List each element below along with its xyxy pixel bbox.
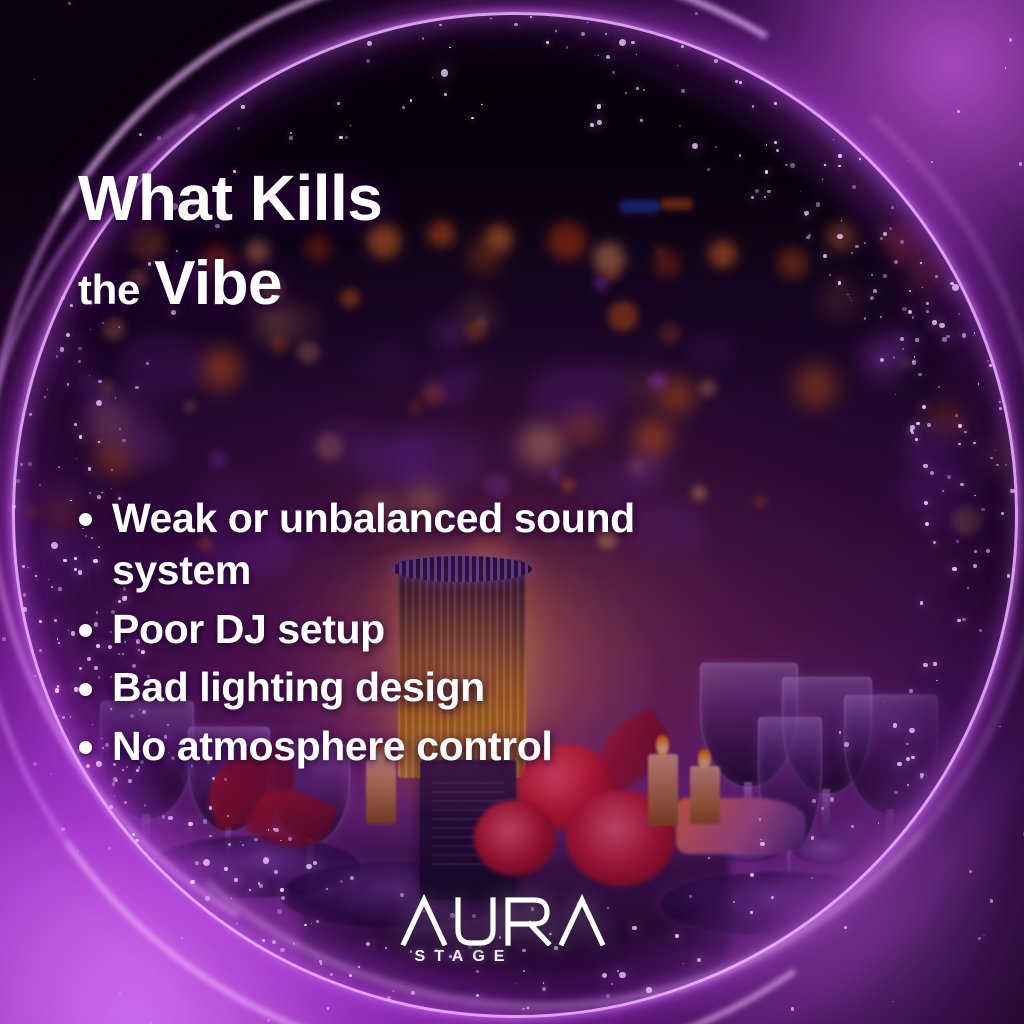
- poster-canvas: What Kills theVibe Weak or unbalanced so…: [0, 0, 1024, 1024]
- logo-subtitle: STAGE: [415, 948, 514, 966]
- list-item: Poor DJ setup: [70, 603, 770, 655]
- headline-line-1: What Kills: [78, 166, 382, 230]
- brand-logo: STAGE: [0, 894, 1024, 966]
- headline-prefix: the: [78, 266, 140, 313]
- poster-copy: What Kills theVibe Weak or unbalanced so…: [0, 0, 1024, 1024]
- list-item: No atmosphere control: [70, 720, 770, 772]
- headline-line-2: theVibe: [78, 248, 382, 319]
- pain-point-list: Weak or unbalanced sound system Poor DJ …: [70, 492, 770, 778]
- headline-emphasis: Vibe: [154, 249, 282, 318]
- list-item: Bad lighting design: [70, 661, 770, 713]
- aura-wordmark-icon: [400, 894, 624, 946]
- page-title: What Kills theVibe: [78, 166, 382, 319]
- list-item: Weak or unbalanced sound system: [70, 492, 770, 597]
